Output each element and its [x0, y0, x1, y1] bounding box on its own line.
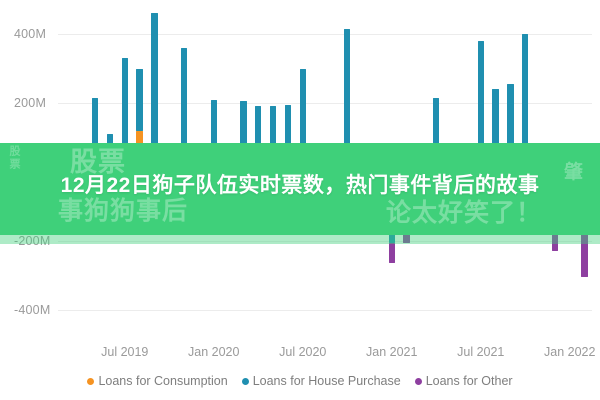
watermark-vertical: 股票 — [8, 145, 19, 171]
legend-label: Loans for Other — [426, 374, 513, 388]
legend-color-swatch — [87, 378, 94, 385]
legend-color-swatch — [415, 378, 422, 385]
legend-color-swatch — [242, 378, 249, 385]
chart-legend: Loans for ConsumptionLoans for House Pur… — [0, 369, 600, 393]
y-axis-tick-label: 400M — [14, 27, 46, 41]
y-axis-tick-label: 200M — [14, 96, 46, 110]
screenshot-root: 400M200M-200M-400M Jul 2019Jan 2020Jul 2… — [0, 0, 600, 400]
legend-label: Loans for House Purchase — [253, 374, 401, 388]
legend-item[interactable]: Loans for Consumption — [87, 374, 227, 388]
x-axis-tick-label: Jan 2021 — [366, 345, 417, 359]
x-axis-labels: Jul 2019Jan 2020Jul 2020Jan 2021Jul 2021… — [58, 345, 592, 365]
legend-item[interactable]: Loans for Other — [415, 374, 513, 388]
bar-segment — [389, 243, 395, 264]
legend-label: Loans for Consumption — [98, 374, 227, 388]
overlay-banner-fade — [0, 235, 600, 244]
overlay-title: 12月22日狗子队伍实时票数，热门事件背后的故事 — [0, 170, 600, 201]
legend-item[interactable]: Loans for House Purchase — [242, 374, 401, 388]
x-axis-tick-label: Jul 2020 — [279, 345, 326, 359]
bar-segment — [136, 69, 142, 131]
watermark-bottom-left: 事狗狗事后 — [58, 199, 188, 224]
x-axis-tick-label: Jul 2019 — [101, 345, 148, 359]
y-axis-tick-label: -400M — [14, 303, 50, 317]
x-axis-tick-label: Jan 2020 — [188, 345, 239, 359]
x-axis-tick-label: Jan 2022 — [544, 345, 595, 359]
watermark-bottom-right: 论太好笑了！ — [386, 201, 542, 226]
x-axis-tick-label: Jul 2021 — [457, 345, 504, 359]
